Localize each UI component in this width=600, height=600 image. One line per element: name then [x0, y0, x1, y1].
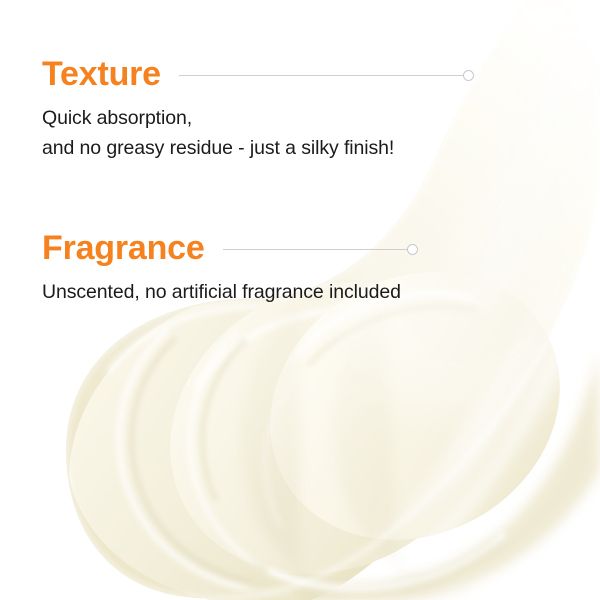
- section-heading-fragrance: Fragrance: [42, 231, 205, 265]
- fragrance-heading-row: Fragrance: [42, 226, 418, 270]
- section-heading-texture: Texture: [42, 57, 161, 91]
- texture-body-line-1: Quick absorption,: [42, 103, 474, 133]
- fragrance-body-line-1: Unscented, no artificial fragrance inclu…: [42, 277, 418, 307]
- circle-endpoint-icon: [463, 70, 474, 81]
- texture-rule-line: [179, 75, 464, 76]
- circle-endpoint-icon: [407, 244, 418, 255]
- texture-rule: [179, 70, 474, 81]
- fragrance-rule-line: [223, 249, 408, 250]
- section-fragrance: Fragrance Unscented, no artificial fragr…: [42, 226, 418, 307]
- fragrance-body-text: Unscented, no artificial fragrance inclu…: [42, 277, 418, 307]
- product-feature-graphic: Texture Quick absorption, and no greasy …: [0, 0, 600, 600]
- texture-heading-row: Texture: [42, 52, 474, 96]
- fragrance-rule: [223, 244, 418, 255]
- section-texture: Texture Quick absorption, and no greasy …: [42, 52, 474, 163]
- texture-body-line-2: and no greasy residue - just a silky fin…: [42, 133, 474, 163]
- texture-body-text: Quick absorption, and no greasy residue …: [42, 103, 474, 163]
